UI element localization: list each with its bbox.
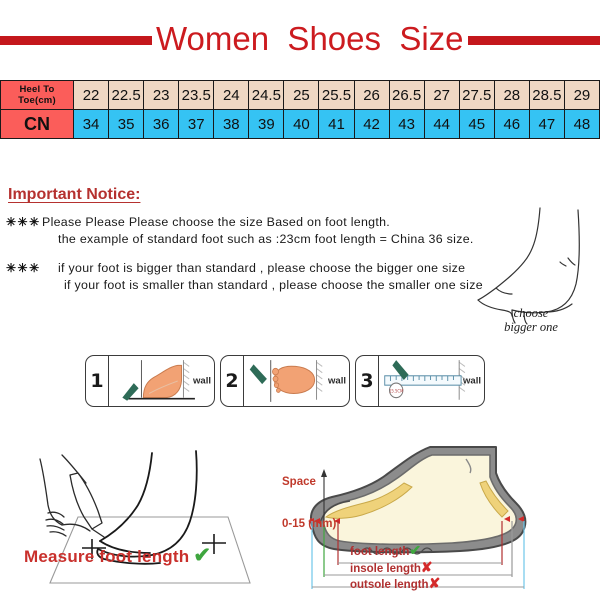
row-header-cn: CN: [1, 110, 74, 139]
asterisk-bullet-icon: ✳✳✳: [6, 214, 42, 229]
measure-label-text: Measure foot length: [24, 547, 189, 566]
title-rule-left: [0, 36, 152, 45]
table-cell-cn: 34: [74, 110, 109, 139]
red-cross-icon: ✘: [429, 575, 441, 591]
step-body: wall: [244, 356, 349, 406]
step-wall-label: wall: [328, 376, 346, 387]
table-cell-cm: 29: [564, 81, 599, 110]
table-row-cm: Heel To Toe(cm) 22 22.5 23 23.5 24 24.5 …: [1, 81, 600, 110]
asterisk-bullet-icon: ✳✳✳: [6, 260, 42, 275]
sketch-caption-line1: choose: [476, 306, 586, 320]
measure-foot-illustration: Measure foot length✔: [0, 425, 300, 600]
row-header-heel-to-toe: Heel To Toe(cm): [1, 81, 74, 110]
table-cell-cn: 46: [494, 110, 529, 139]
legend-label: outsole length: [350, 579, 429, 591]
size-chart-page: Women Shoes Size Heel To Toe(cm) 22 22.5…: [0, 0, 600, 600]
table-cell-cm: 28: [494, 81, 529, 110]
table-cell-cn: 35: [109, 110, 144, 139]
green-check-icon: ✔: [409, 542, 421, 558]
table-cell-cn: 42: [354, 110, 389, 139]
table-cell-cn: 40: [284, 110, 319, 139]
step-panel-2: 2 wall: [220, 355, 350, 407]
measure-steps: 1 wall 2: [85, 355, 485, 407]
legend-row-foot-length: foot length✔: [350, 543, 440, 560]
step-panel-1: 1 wall: [85, 355, 215, 407]
step-wall-label: wall: [193, 376, 211, 387]
sketch-caption: choose bigger one: [476, 306, 586, 334]
legend-label: insole length: [350, 563, 421, 575]
table-cell-cm: 25: [284, 81, 319, 110]
table-cell-cn: 36: [144, 110, 179, 139]
space-gap-label: Space 0-15 (mm): [282, 447, 336, 559]
table-cell-cm: 22: [74, 81, 109, 110]
table-cell-cm: 24: [214, 81, 249, 110]
sketch-caption-line2: bigger one: [476, 320, 586, 334]
title-rule-right: [468, 36, 600, 45]
table-cell-cn: 41: [319, 110, 354, 139]
table-cell-cm: 25.5: [319, 81, 354, 110]
table-cell-cn: 43: [389, 110, 424, 139]
space-label-line2: 0-15 (mm): [282, 517, 336, 531]
table-cell-cm: 23: [144, 81, 179, 110]
step-body: wall: [109, 356, 214, 406]
table-cell-cn: 48: [564, 110, 599, 139]
table-cell-cm: 26: [354, 81, 389, 110]
step-panel-3: 3: [355, 355, 485, 407]
table-cell-cm: 26.5: [389, 81, 424, 110]
table-cell-cn: 45: [459, 110, 494, 139]
svg-text:15.5CM: 15.5CM: [389, 388, 404, 393]
legend-row-insole-length: insole length✘: [350, 560, 440, 577]
table-cell-cn: 39: [249, 110, 284, 139]
legend-label: foot length: [350, 546, 409, 558]
green-check-icon: ✔: [193, 544, 211, 567]
important-notice-heading: Important Notice:: [8, 186, 140, 204]
table-cell-cm: 22.5: [109, 81, 144, 110]
space-label-line1: Space: [282, 475, 336, 489]
step-wall-label: wall: [463, 376, 481, 387]
table-cell-cm: 24.5: [249, 81, 284, 110]
table-row-cn: CN 34 35 36 37 38 39 40 41 42 43 44 45 4…: [1, 110, 600, 139]
size-table: Heel To Toe(cm) 22 22.5 23 23.5 24 24.5 …: [0, 80, 600, 139]
table-cell-cm: 28.5: [529, 81, 564, 110]
step-number: 1: [86, 356, 109, 406]
table-cell-cm: 23.5: [179, 81, 214, 110]
table-cell-cm: 27.5: [459, 81, 494, 110]
shoe-foot-fit-icon: [290, 425, 600, 600]
length-legend: foot length✔ insole length✘ outsole leng…: [350, 543, 440, 593]
step-body: 15.5CM wall: [379, 356, 484, 406]
table-cell-cn: 47: [529, 110, 564, 139]
table-cell-cm: 27: [424, 81, 459, 110]
table-cell-cn: 38: [214, 110, 249, 139]
red-cross-icon: ✘: [421, 559, 433, 575]
table-cell-cn: 37: [179, 110, 214, 139]
title-text: Women Shoes Size: [152, 20, 468, 58]
hand-pencil-foot-sketch-icon: [0, 425, 300, 600]
legend-row-outsole-length: outsole length✘: [350, 576, 440, 593]
table-cell-cn: 44: [424, 110, 459, 139]
page-title: Women Shoes Size: [0, 18, 600, 60]
measure-foot-length-label: Measure foot length✔: [24, 543, 211, 568]
shoe-cross-section-diagram: Space 0-15 (mm) foot length✔ insole leng…: [290, 425, 600, 600]
step-number: 2: [221, 356, 244, 406]
step-number: 3: [356, 356, 379, 406]
